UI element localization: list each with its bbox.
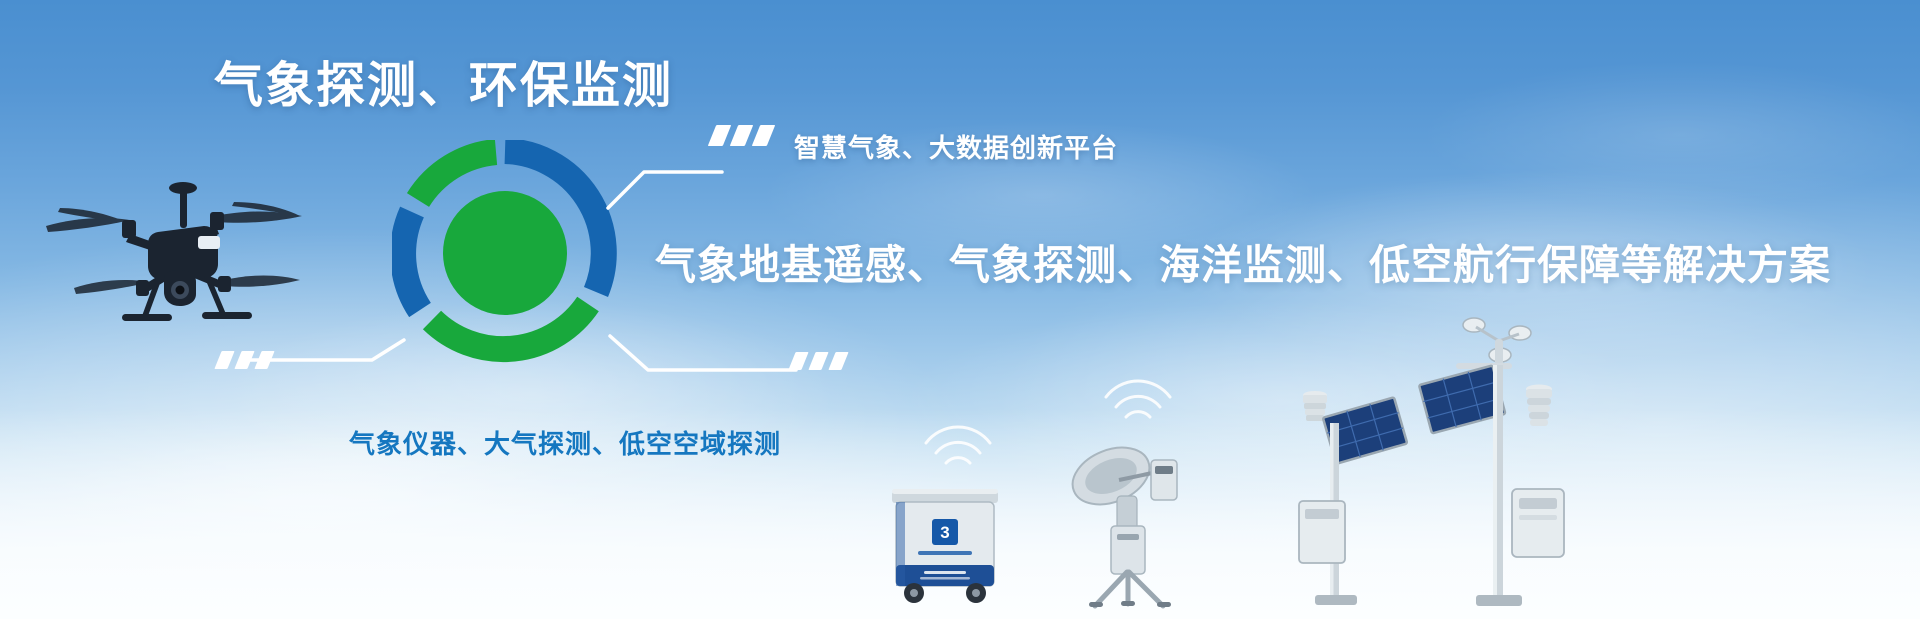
solar-powered-weather-station-icon: [1275, 383, 1410, 613]
callout-bottom-label: 气象仪器、大气探测、低空空域探测: [349, 424, 781, 461]
page-title: 气象探测、环保监测: [214, 46, 673, 117]
slash-marks-bottom: [792, 352, 845, 370]
satellite-dish-tripod-icon: [1055, 434, 1215, 609]
ring-diagram: [392, 140, 618, 366]
callout-top-label: 智慧气象、大数据创新平台: [794, 128, 1118, 165]
slash-marks-top: [712, 125, 771, 146]
slash-marks-left: [218, 351, 271, 369]
drone-icon: [38, 160, 308, 345]
solutions-tagline: 气象地基遥感、气象探测、海洋监测、低空航行保障等解决方案: [655, 231, 1831, 291]
svg-text:3: 3: [940, 523, 949, 542]
automatic-weather-station-anemometer-icon: [1400, 313, 1575, 613]
weather-detection-banner: 气象探测、环保监测: [0, 0, 1920, 619]
lidar-instrument-cart-icon: 3: [880, 481, 1010, 611]
